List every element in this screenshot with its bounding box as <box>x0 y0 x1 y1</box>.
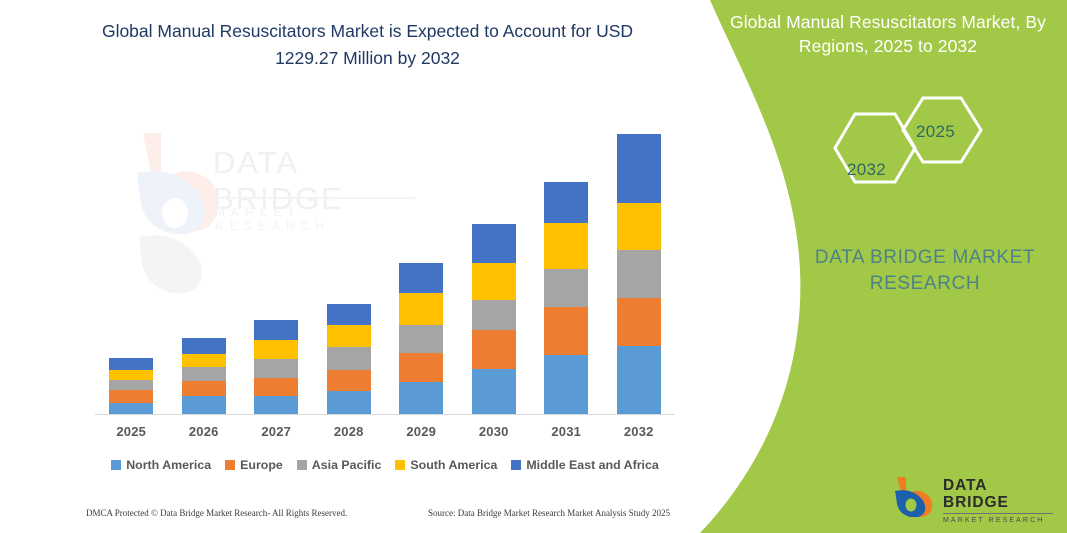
x-axis-tick-label: 2026 <box>168 424 240 439</box>
legend-label: Middle East and Africa <box>526 458 658 472</box>
bar-segment <box>472 330 516 368</box>
x-axis-line <box>95 414 675 415</box>
legend-item-asia-pacific[interactable]: Asia Pacific <box>297 458 382 472</box>
bar-group <box>472 224 516 414</box>
chart-plot-area: DATA BRIDGE MARKET RESEARCH <box>95 120 675 420</box>
bar-segment <box>617 298 661 346</box>
legend-item-south-america[interactable]: South America <box>395 458 497 472</box>
data-bridge-logo: DATA BRIDGE MARKET RESEARCH <box>893 473 1053 519</box>
bar-segment <box>617 203 661 250</box>
bar-segment <box>254 320 298 341</box>
bar-segment <box>182 338 226 353</box>
legend-item-north-america[interactable]: North America <box>111 458 211 472</box>
bar-segment <box>254 359 298 378</box>
x-axis-tick-label: 2030 <box>458 424 530 439</box>
bar-segment <box>617 250 661 298</box>
bar-segment <box>544 307 588 355</box>
logo-mark-icon <box>893 475 937 517</box>
panel-heading: Global Manual Resuscitators Market, By R… <box>718 10 1058 58</box>
x-axis-labels: 20252026202720282029203020312032 <box>95 424 675 444</box>
bar-segment <box>254 396 298 414</box>
legend-item-europe[interactable]: Europe <box>225 458 283 472</box>
x-axis-tick-label: 2025 <box>95 424 167 439</box>
stacked-bar-chart <box>95 120 675 420</box>
bar-segment <box>109 370 153 380</box>
legend-label: North America <box>126 458 211 472</box>
bar-segment <box>109 390 153 403</box>
bar-segment <box>472 263 516 300</box>
logo-title: DATA BRIDGE <box>943 477 1055 511</box>
bar-segment <box>109 358 153 370</box>
legend-swatch-icon <box>225 460 235 470</box>
bar-segment <box>327 304 371 326</box>
bar-segment <box>617 134 661 203</box>
chart-legend: North AmericaEuropeAsia PacificSouth Ame… <box>95 455 675 475</box>
legend-label: South America <box>410 458 497 472</box>
bar-segment <box>109 403 153 414</box>
bar-segment <box>617 346 661 414</box>
bar-segment <box>327 325 371 347</box>
infographic-root: Global Manual Resuscitators Market, By R… <box>0 0 1067 533</box>
bar-segment <box>399 382 443 414</box>
bar-segment <box>399 263 443 293</box>
logo-divider <box>943 513 1053 514</box>
hexagon-label-2025: 2025 <box>916 122 955 142</box>
logo-wordmark: DATA BRIDGE MARKET RESEARCH <box>943 477 1055 525</box>
bar-segment <box>544 269 588 307</box>
bar-segment <box>472 224 516 263</box>
bar-segment <box>327 347 371 370</box>
bar-segment <box>109 380 153 389</box>
bar-segment <box>182 381 226 396</box>
bar-segment <box>254 340 298 359</box>
legend-label: Europe <box>240 458 283 472</box>
logo-subtitle: MARKET RESEARCH <box>943 516 1055 525</box>
footer-copyright: DMCA Protected © Data Bridge Market Rese… <box>86 508 347 518</box>
bar-segment <box>254 378 298 397</box>
bar-segment <box>399 293 443 324</box>
legend-label: Asia Pacific <box>312 458 382 472</box>
x-axis-tick-label: 2031 <box>530 424 602 439</box>
bar-segment <box>327 370 371 392</box>
bar-segment <box>182 396 226 414</box>
x-axis-tick-label: 2027 <box>240 424 312 439</box>
bar-segment <box>399 353 443 382</box>
bar-segment <box>472 369 516 414</box>
bar-segment <box>544 223 588 269</box>
legend-swatch-icon <box>111 460 121 470</box>
x-axis-tick-label: 2028 <box>313 424 385 439</box>
legend-item-middle-east-and-africa[interactable]: Middle East and Africa <box>511 458 658 472</box>
bar-segment <box>327 391 371 414</box>
bar-segment <box>399 325 443 354</box>
page-title: Global Manual Resuscitators Market is Ex… <box>95 18 640 72</box>
legend-swatch-icon <box>511 460 521 470</box>
bar-group <box>399 263 443 414</box>
hexagon-years: 2025 2032 <box>815 92 995 210</box>
bar-group <box>617 134 661 414</box>
hexagon-label-2032: 2032 <box>847 160 886 180</box>
legend-swatch-icon <box>395 460 405 470</box>
legend-swatch-icon <box>297 460 307 470</box>
x-axis-tick-label: 2032 <box>603 424 675 439</box>
bar-group <box>109 358 153 414</box>
bar-group <box>327 304 371 414</box>
bar-segment <box>182 367 226 381</box>
bar-segment <box>472 300 516 331</box>
x-axis-tick-label: 2029 <box>385 424 457 439</box>
bar-group <box>544 182 588 414</box>
bar-segment <box>544 182 588 223</box>
bar-segment <box>544 355 588 414</box>
bar-segment <box>182 354 226 367</box>
bar-group <box>254 320 298 414</box>
panel-brand-text: DATA BRIDGE MARKET RESEARCH <box>760 245 1067 297</box>
bar-group <box>182 338 226 414</box>
footer-source: Source: Data Bridge Market Research Mark… <box>428 508 670 518</box>
